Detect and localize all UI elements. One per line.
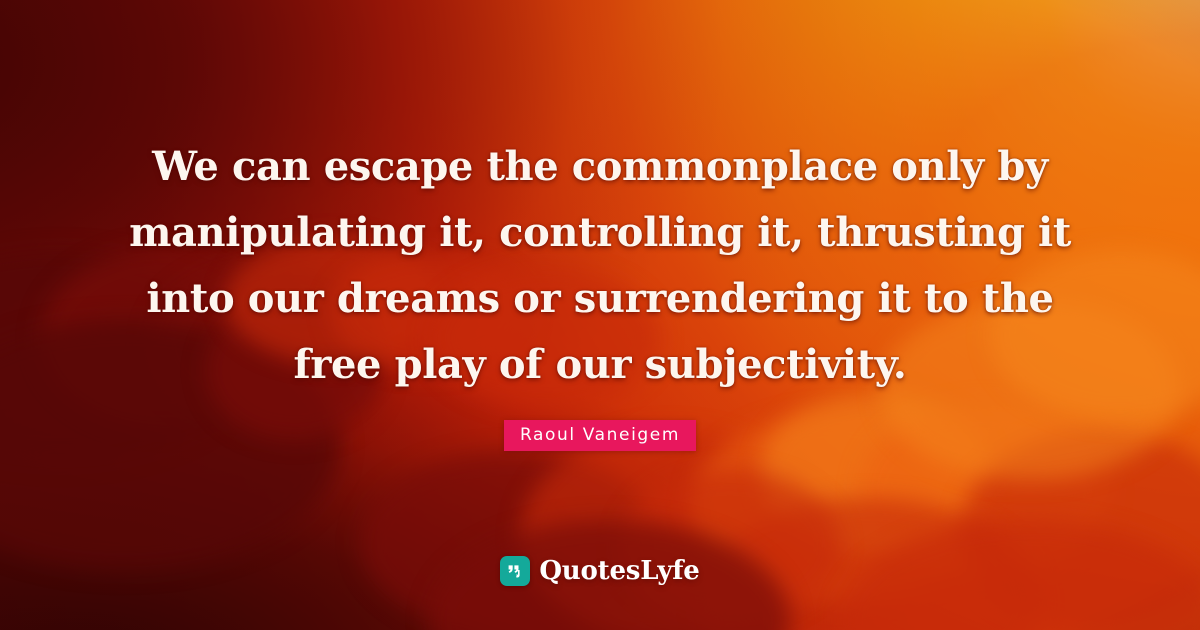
quote-line-2: manipulating it, controlling it, thrusti… [110, 200, 1090, 266]
card-content: We can escape the commonplace only by ma… [0, 0, 1200, 630]
brand-watermark: QuotesLyfe [0, 556, 1200, 586]
quote-marks-icon [500, 556, 530, 586]
author-name: Raoul Vaneigem [504, 420, 696, 451]
quote-card: We can escape the commonplace only by ma… [0, 0, 1200, 630]
quote-line-4: free play of our subjectivity. [110, 332, 1090, 398]
quote-line-3: into our dreams or surrendering it to th… [110, 266, 1090, 332]
author-attribution: Raoul Vaneigem [0, 420, 1200, 451]
quote-text-block: We can escape the commonplace only by ma… [0, 134, 1200, 398]
quote-line-1: We can escape the commonplace only by [110, 134, 1090, 200]
brand-name: QuotesLyfe [539, 556, 699, 586]
